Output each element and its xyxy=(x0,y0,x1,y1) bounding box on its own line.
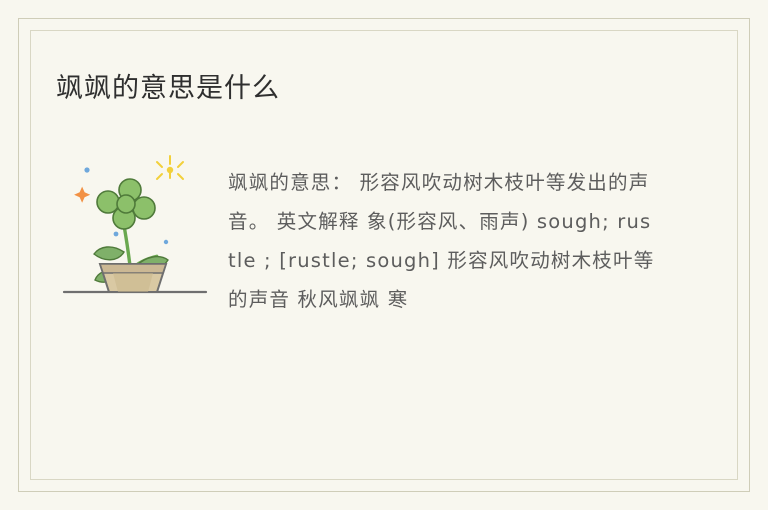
document-page: 飒飒的意思是什么 xyxy=(0,0,768,510)
page-title: 飒飒的意思是什么 xyxy=(56,66,280,105)
definition-body-text: 飒飒的意思： 形容风吹动树木枝叶等发出的声音。 英文解释 象(形容风、雨声) s… xyxy=(228,163,656,319)
potted-plant-illustration xyxy=(58,140,218,305)
